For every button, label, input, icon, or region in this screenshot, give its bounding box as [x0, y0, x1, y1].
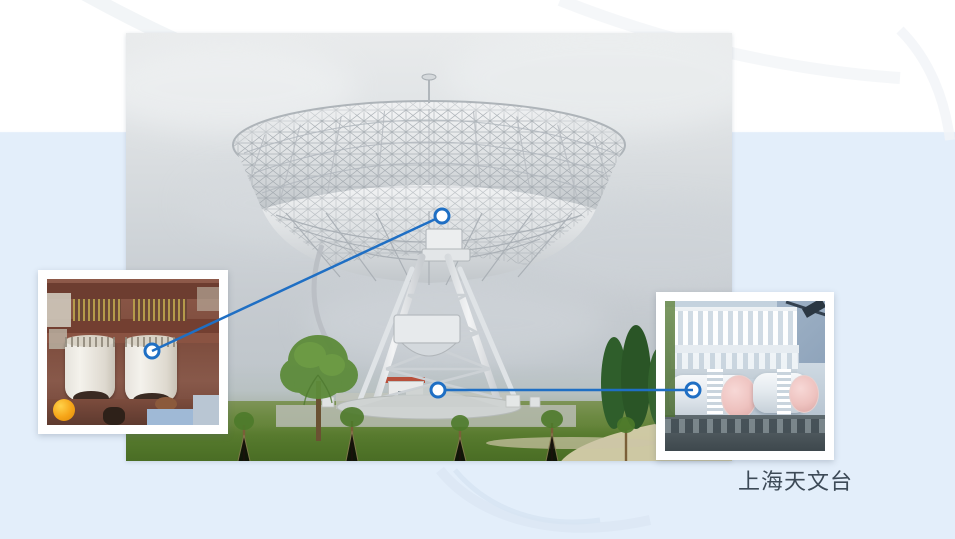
callout-left-image — [47, 279, 219, 425]
callout-left-marker-dot[interactable] — [145, 344, 159, 358]
callout-right-marker-dot[interactable] — [686, 383, 700, 397]
callout-photo-right[interactable] — [656, 292, 834, 460]
photo-saplings — [222, 405, 722, 461]
callout-photo-left[interactable] — [38, 270, 228, 434]
callout-right-marker-layer — [665, 301, 825, 451]
callout-left-marker-layer — [47, 279, 219, 425]
slide-caption: 上海天文台 — [738, 470, 853, 494]
presentation-slide: 上海天文台 — [0, 0, 955, 539]
callout-right-image — [665, 301, 825, 451]
